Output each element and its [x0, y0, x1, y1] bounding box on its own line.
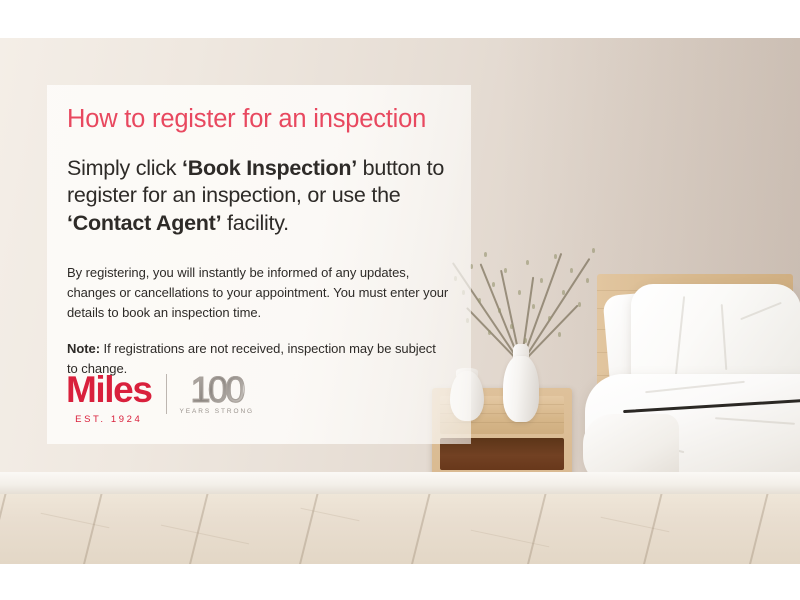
letterbox-top — [0, 0, 800, 38]
lead-emphasis-contact-agent: ‘Contact Agent’ — [67, 211, 221, 235]
wood-floor — [0, 494, 800, 564]
card-heading: How to register for an inspection — [67, 104, 449, 135]
vase-tall — [503, 356, 539, 422]
poster-canvas: How to register for an inspection Simply… — [0, 0, 800, 600]
miles-wordmark: Miles — [66, 372, 152, 407]
skirting-board — [0, 472, 800, 496]
lead-prefix: Simply click — [67, 156, 182, 180]
note-label: Note: — [67, 341, 100, 356]
lead-suffix: facility. — [221, 211, 289, 235]
anniversary-number: 100 — [190, 373, 243, 406]
miles-wordmark-group: Miles EST. 1924 — [66, 372, 152, 425]
miles-established-text: EST. 1924 — [75, 414, 142, 425]
card-lead-paragraph: Simply click ‘Book Inspection’ button to… — [67, 155, 449, 238]
lead-emphasis-book-inspection: ‘Book Inspection’ — [182, 156, 357, 180]
card-body-paragraph-1: By registering, you will instantly be in… — [67, 263, 449, 322]
miles-logo: Miles EST. 1924 100 YEARS STRONG — [66, 372, 254, 425]
anniversary-caption: YEARS STRONG — [180, 408, 254, 415]
logo-divider — [166, 374, 167, 414]
letterbox-bottom — [0, 564, 800, 600]
anniversary-emblem: 100 YEARS STRONG — [180, 373, 254, 415]
